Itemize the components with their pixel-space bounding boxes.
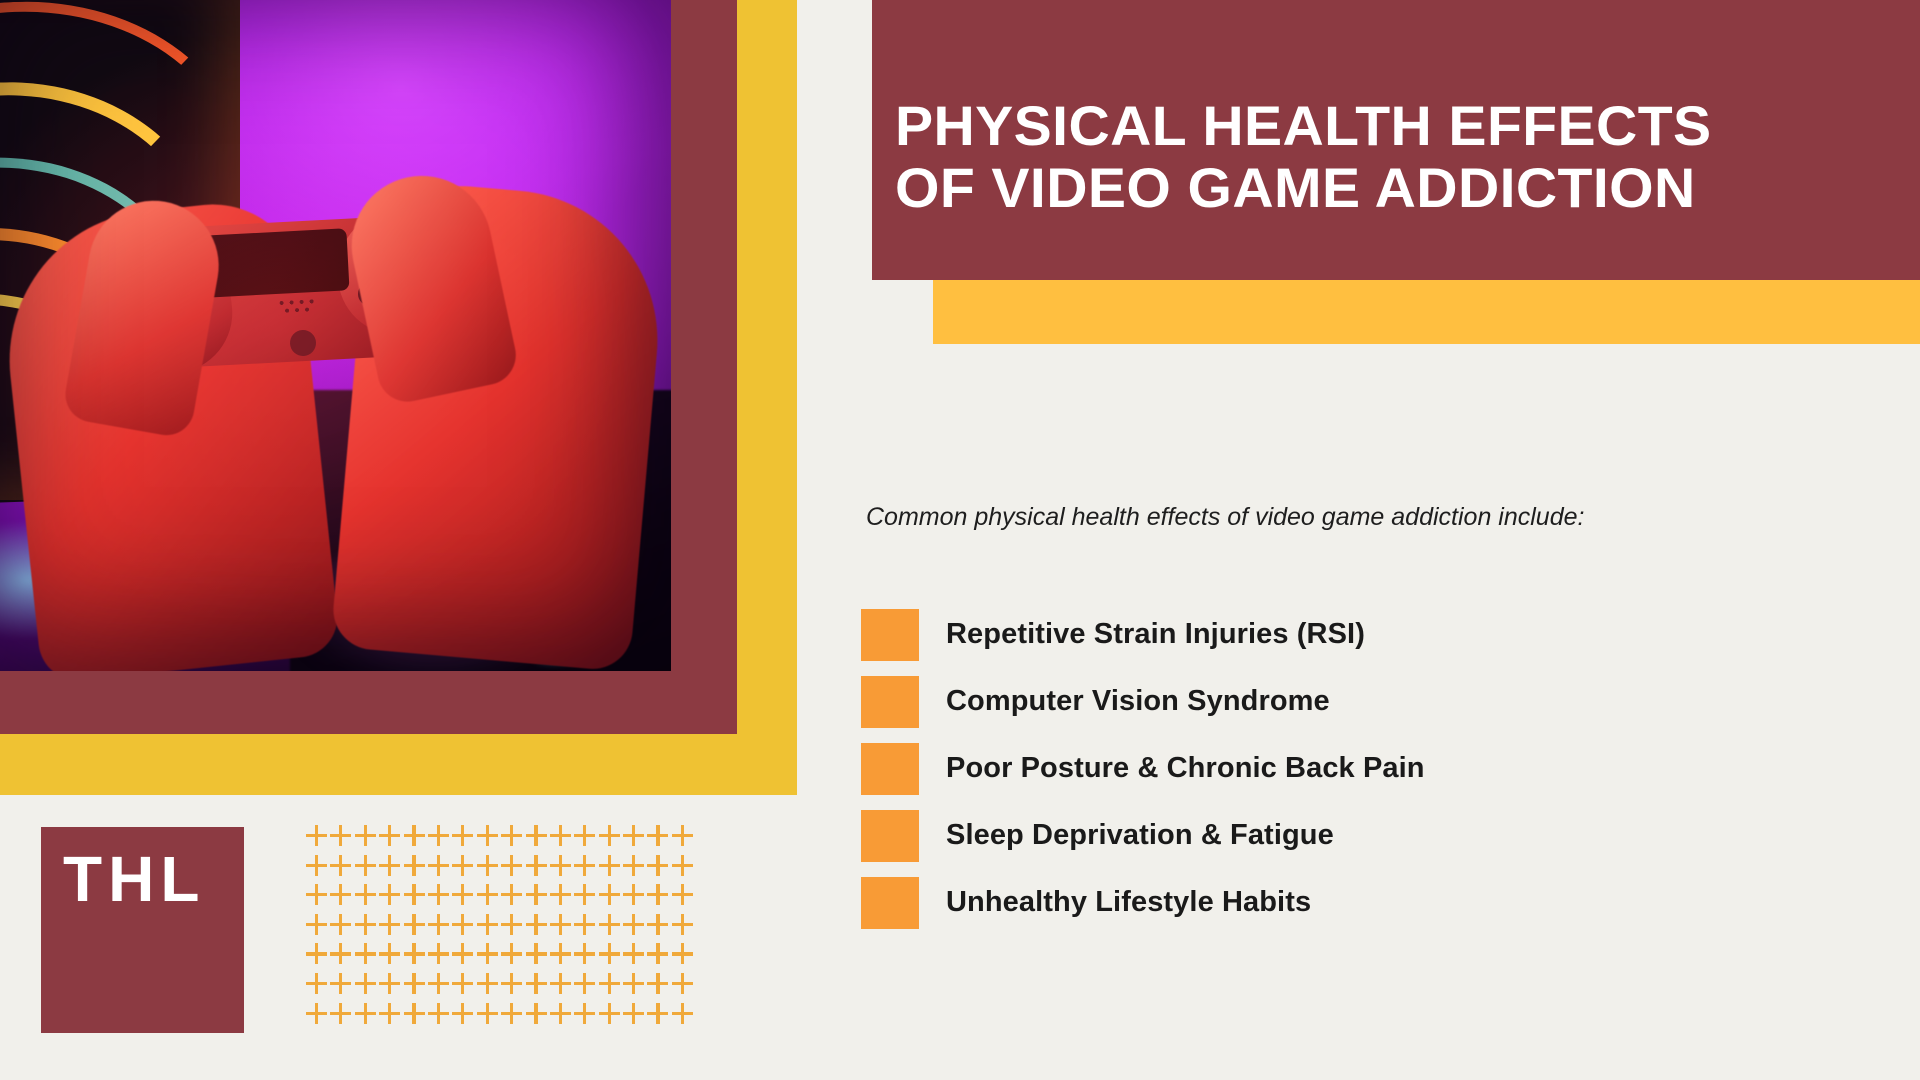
plus-icon bbox=[550, 972, 574, 1002]
health-effects-list: Repetitive Strain Injuries (RSI) Compute… bbox=[861, 601, 1871, 936]
plus-icon bbox=[379, 824, 403, 854]
plus-icon bbox=[623, 824, 647, 854]
plus-icon bbox=[428, 883, 452, 913]
thl-logo-text: THL bbox=[63, 847, 205, 911]
plus-icon bbox=[428, 1002, 452, 1032]
list-item: Computer Vision Syndrome bbox=[861, 668, 1871, 735]
plus-icon bbox=[330, 972, 354, 1002]
plus-icon bbox=[330, 913, 354, 943]
list-item: Sleep Deprivation & Fatigue bbox=[861, 802, 1871, 869]
plus-icon bbox=[428, 942, 452, 972]
plus-icon bbox=[647, 883, 671, 913]
plus-icon bbox=[477, 913, 501, 943]
plus-icon bbox=[306, 854, 330, 884]
plus-icon bbox=[355, 942, 379, 972]
page-title: PHYSICAL HEALTH EFFECTS OF VIDEO GAME AD… bbox=[895, 95, 1712, 220]
hero-photo bbox=[0, 0, 671, 671]
plus-icon bbox=[599, 883, 623, 913]
plus-icon bbox=[672, 883, 696, 913]
intro-text: Common physical health effects of video … bbox=[866, 500, 1666, 536]
plus-icon bbox=[623, 1002, 647, 1032]
plus-icon bbox=[599, 913, 623, 943]
plus-icon bbox=[501, 824, 525, 854]
list-item-label: Computer Vision Syndrome bbox=[946, 685, 1330, 718]
plus-icon bbox=[574, 913, 598, 943]
plus-icon bbox=[501, 913, 525, 943]
plus-icon bbox=[477, 883, 501, 913]
plus-icon bbox=[647, 1002, 671, 1032]
plus-icon bbox=[672, 972, 696, 1002]
photo-controller-touchpad bbox=[201, 228, 349, 298]
plus-icon bbox=[623, 942, 647, 972]
bullet-square-icon bbox=[861, 609, 919, 661]
plus-icon bbox=[355, 883, 379, 913]
plus-icon bbox=[452, 854, 476, 884]
plus-pattern-decoration bbox=[306, 824, 696, 1031]
plus-icon bbox=[526, 972, 550, 1002]
plus-icon bbox=[330, 942, 354, 972]
plus-icon bbox=[428, 824, 452, 854]
plus-icon bbox=[672, 1002, 696, 1032]
plus-icon bbox=[404, 913, 428, 943]
plus-icon bbox=[550, 1002, 574, 1032]
plus-icon bbox=[599, 942, 623, 972]
photo-controller-speaker bbox=[277, 297, 322, 321]
plus-icon bbox=[404, 854, 428, 884]
plus-icon bbox=[526, 824, 550, 854]
plus-icon bbox=[574, 972, 598, 1002]
plus-icon bbox=[599, 1002, 623, 1032]
plus-icon bbox=[647, 854, 671, 884]
plus-icon bbox=[501, 972, 525, 1002]
plus-icon bbox=[330, 883, 354, 913]
plus-icon bbox=[452, 942, 476, 972]
plus-icon bbox=[428, 854, 452, 884]
plus-icon bbox=[550, 824, 574, 854]
plus-icon bbox=[672, 942, 696, 972]
plus-icon bbox=[550, 854, 574, 884]
plus-icon bbox=[306, 1002, 330, 1032]
plus-icon bbox=[306, 883, 330, 913]
plus-icon bbox=[355, 854, 379, 884]
plus-icon bbox=[574, 942, 598, 972]
plus-icon bbox=[379, 942, 403, 972]
bullet-square-icon bbox=[861, 877, 919, 929]
slide-canvas: PHYSICAL HEALTH EFFECTS OF VIDEO GAME AD… bbox=[0, 0, 1920, 1080]
plus-icon bbox=[501, 854, 525, 884]
plus-icon bbox=[647, 972, 671, 1002]
plus-icon bbox=[477, 1002, 501, 1032]
plus-icon bbox=[526, 883, 550, 913]
plus-icon bbox=[404, 1002, 428, 1032]
plus-icon bbox=[477, 942, 501, 972]
plus-icon bbox=[379, 854, 403, 884]
plus-icon bbox=[477, 824, 501, 854]
plus-icon bbox=[526, 913, 550, 943]
plus-icon bbox=[501, 883, 525, 913]
plus-icon bbox=[355, 824, 379, 854]
plus-icon bbox=[306, 913, 330, 943]
plus-icon bbox=[599, 972, 623, 1002]
plus-icon bbox=[306, 824, 330, 854]
plus-icon bbox=[623, 854, 647, 884]
plus-icon bbox=[330, 1002, 354, 1032]
plus-icon bbox=[379, 913, 403, 943]
plus-icon bbox=[623, 913, 647, 943]
plus-icon bbox=[404, 883, 428, 913]
list-item: Poor Posture & Chronic Back Pain bbox=[861, 735, 1871, 802]
plus-icon bbox=[501, 942, 525, 972]
plus-icon bbox=[477, 972, 501, 1002]
title-banner: PHYSICAL HEALTH EFFECTS OF VIDEO GAME AD… bbox=[872, 0, 1920, 280]
plus-icon bbox=[623, 972, 647, 1002]
thl-logo: THL bbox=[41, 827, 244, 1033]
plus-icon bbox=[330, 824, 354, 854]
plus-icon bbox=[428, 913, 452, 943]
plus-icon bbox=[355, 913, 379, 943]
plus-icon bbox=[452, 913, 476, 943]
plus-icon bbox=[550, 883, 574, 913]
list-item-label: Sleep Deprivation & Fatigue bbox=[946, 819, 1334, 852]
plus-icon bbox=[452, 824, 476, 854]
title-accent-bar bbox=[933, 279, 1920, 344]
list-item-label: Repetitive Strain Injuries (RSI) bbox=[946, 618, 1365, 651]
plus-icon bbox=[623, 883, 647, 913]
plus-icon bbox=[477, 854, 501, 884]
hero-photo-inner bbox=[0, 0, 671, 671]
plus-icon bbox=[452, 972, 476, 1002]
plus-icon bbox=[574, 1002, 598, 1032]
plus-icon bbox=[672, 854, 696, 884]
plus-icon bbox=[404, 942, 428, 972]
plus-icon bbox=[672, 824, 696, 854]
plus-icon bbox=[404, 824, 428, 854]
plus-icon bbox=[452, 1002, 476, 1032]
plus-icon bbox=[379, 1002, 403, 1032]
plus-icon bbox=[647, 913, 671, 943]
plus-icon bbox=[599, 824, 623, 854]
plus-icon bbox=[355, 972, 379, 1002]
list-item: Unhealthy Lifestyle Habits bbox=[861, 869, 1871, 936]
plus-icon bbox=[330, 854, 354, 884]
plus-icon bbox=[355, 1002, 379, 1032]
plus-icon bbox=[379, 972, 403, 1002]
plus-icon bbox=[574, 854, 598, 884]
plus-icon bbox=[404, 972, 428, 1002]
plus-icon bbox=[428, 972, 452, 1002]
bullet-square-icon bbox=[861, 810, 919, 862]
list-item-label: Poor Posture & Chronic Back Pain bbox=[946, 752, 1425, 785]
bullet-square-icon bbox=[861, 743, 919, 795]
plus-icon bbox=[647, 942, 671, 972]
list-item-label: Unhealthy Lifestyle Habits bbox=[946, 886, 1311, 919]
plus-icon bbox=[574, 883, 598, 913]
plus-icon bbox=[550, 942, 574, 972]
plus-icon bbox=[599, 854, 623, 884]
bullet-square-icon bbox=[861, 676, 919, 728]
plus-icon bbox=[501, 1002, 525, 1032]
plus-icon bbox=[574, 824, 598, 854]
plus-icon bbox=[647, 824, 671, 854]
plus-icon bbox=[306, 942, 330, 972]
plus-icon bbox=[672, 913, 696, 943]
plus-icon bbox=[452, 883, 476, 913]
plus-icon bbox=[306, 972, 330, 1002]
plus-icon bbox=[526, 942, 550, 972]
plus-icon bbox=[526, 854, 550, 884]
plus-icon bbox=[550, 913, 574, 943]
list-item: Repetitive Strain Injuries (RSI) bbox=[861, 601, 1871, 668]
plus-icon bbox=[379, 883, 403, 913]
plus-icon bbox=[526, 1002, 550, 1032]
